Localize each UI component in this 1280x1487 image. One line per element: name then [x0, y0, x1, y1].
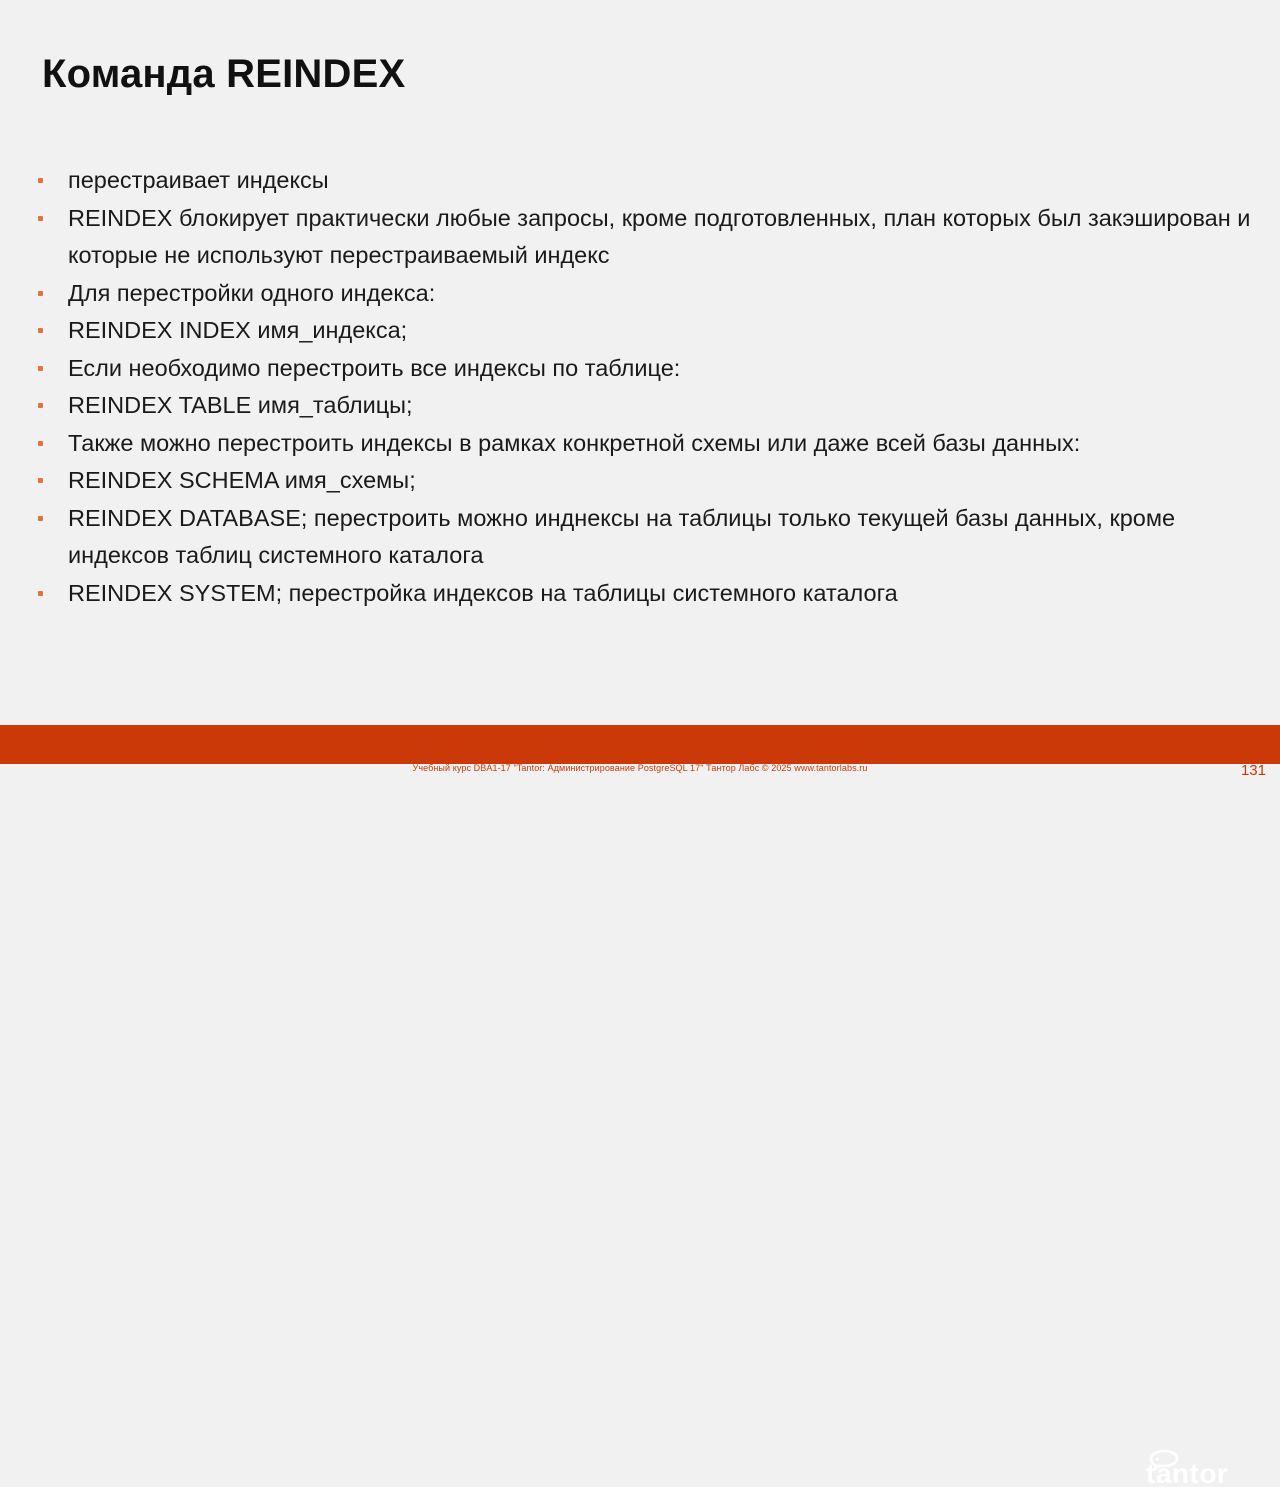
- bullet-dot-icon: [38, 516, 43, 521]
- bullet-dot-icon: [38, 178, 43, 183]
- bullet-dot-icon: [38, 441, 43, 446]
- list-item: REINDEX блокирует практически любые запр…: [30, 200, 1255, 275]
- bullet-dot-icon: [38, 366, 43, 371]
- list-item: перестраивает индексы: [30, 162, 1255, 200]
- list-item-label: REINDEX TABLE имя_таблицы;: [68, 387, 1255, 425]
- list-item: Также можно перестроить индексы в рамках…: [30, 425, 1255, 463]
- tantor-logo: tantor: [1146, 1447, 1258, 1487]
- list-item-label: REINDEX DATABASE; перестроить можно индн…: [68, 500, 1255, 575]
- list-item-label: перестраивает индексы: [68, 162, 1255, 200]
- page-title: Команда REINDEX: [42, 52, 405, 97]
- list-item: REINDEX SYSTEM; перестройка индексов на …: [30, 575, 1255, 613]
- slide: Команда REINDEX перестраивает индексы RE…: [0, 0, 1280, 781]
- list-item-label: REINDEX SCHEMA имя_схемы;: [68, 462, 1255, 500]
- page-number: 131: [1241, 762, 1266, 779]
- list-item: REINDEX TABLE имя_таблицы;: [30, 387, 1255, 425]
- list-item-label: REINDEX блокирует практически любые запр…: [68, 200, 1255, 275]
- bullet-dot-icon: [38, 328, 43, 333]
- bullet-dot-icon: [38, 291, 43, 296]
- bullet-dot-icon: [38, 216, 43, 221]
- list-item: REINDEX SCHEMA имя_схемы;: [30, 462, 1255, 500]
- bullet-dot-icon: [38, 478, 43, 483]
- list-item-label: Также можно перестроить индексы в рамках…: [68, 425, 1255, 463]
- bullet-list: перестраивает индексы REINDEX блокирует …: [30, 162, 1255, 612]
- bullet-dot-icon: [38, 591, 43, 596]
- list-item: Если необходимо перестроить все индексы …: [30, 350, 1255, 388]
- list-item-label: Для перестройки одного индекса:: [68, 275, 1255, 313]
- list-item: REINDEX DATABASE; перестроить можно индн…: [30, 500, 1255, 575]
- footer-bar: tantor: [0, 725, 1280, 764]
- list-item: REINDEX INDEX имя_индекса;: [30, 312, 1255, 350]
- bullet-dot-icon: [38, 403, 43, 408]
- list-item-label: Если необходимо перестроить все индексы …: [68, 350, 1255, 388]
- footer-copyright-note: Учебный курс DBA1-17 "Tantor: Администри…: [0, 763, 1280, 773]
- list-item-label: REINDEX SYSTEM; перестройка индексов на …: [68, 575, 1255, 613]
- list-item-label: REINDEX INDEX имя_индекса;: [68, 312, 1255, 350]
- list-item: Для перестройки одного индекса:: [30, 275, 1255, 313]
- svg-text:tantor: tantor: [1146, 1458, 1228, 1487]
